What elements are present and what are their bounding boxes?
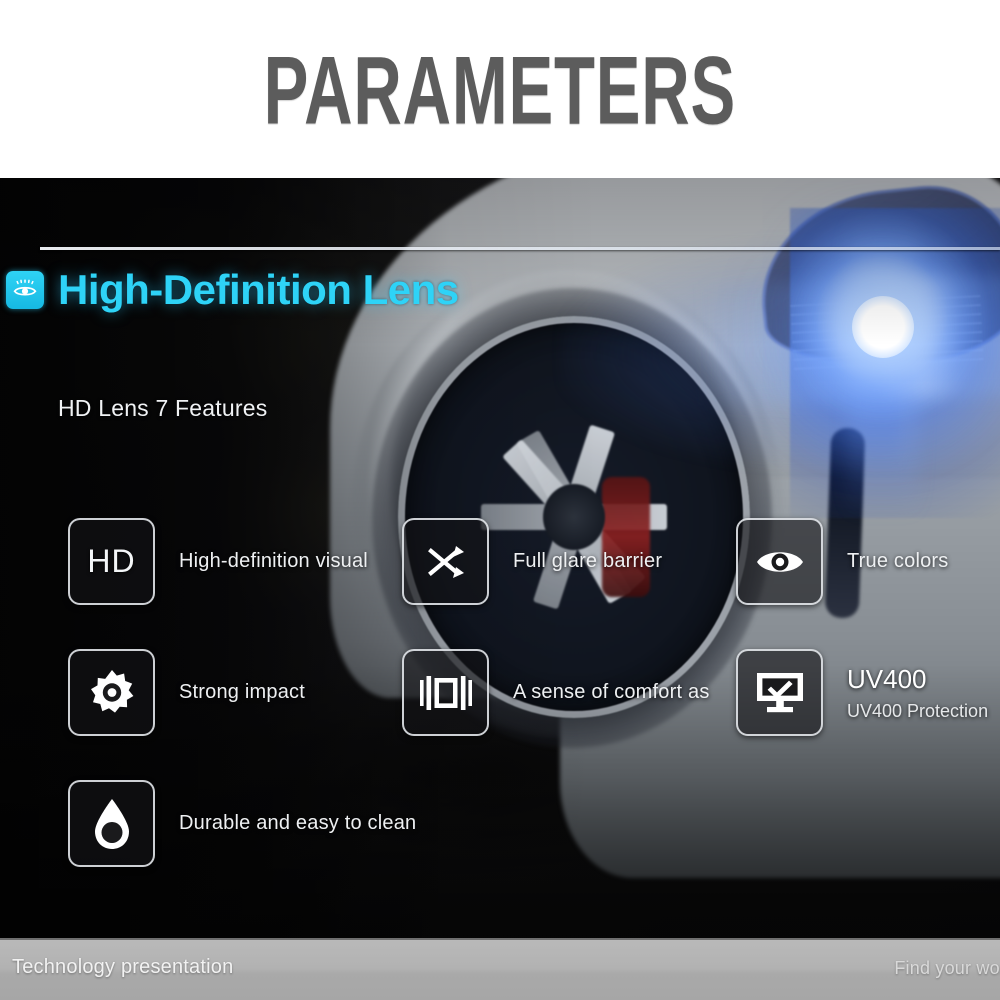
hd-icon-label: HD	[87, 543, 135, 580]
feature-row: Strong impact	[0, 649, 1000, 780]
water-drop-icon	[68, 780, 155, 867]
section-header: High-Definition Lens	[6, 266, 459, 314]
headlight-vertical-flare	[848, 218, 918, 518]
feature-label: High-definition visual	[179, 550, 368, 573]
feature-label: Strong impact	[179, 681, 305, 704]
feature-item-impact: Strong impact	[68, 649, 305, 736]
feature-label-stack: UV400 UV400 Protection	[847, 664, 988, 722]
section-divider	[40, 247, 1000, 250]
feature-item-glare: Full glare barrier	[402, 518, 662, 605]
feature-item-hd: HD High-definition visual	[68, 518, 368, 605]
feature-label: Full glare barrier	[513, 550, 662, 573]
feature-row: Durable and easy to clean	[0, 780, 1000, 911]
footer-right-text: Find your wor	[894, 958, 1000, 979]
section-subtitle: HD Lens 7 Features	[58, 395, 267, 422]
shuffle-arrows-icon	[402, 518, 489, 605]
eye-icon	[6, 271, 44, 309]
hd-icon: HD	[68, 518, 155, 605]
eye-solid-icon	[736, 518, 823, 605]
photo-stage: High-Definition Lens HD Lens 7 Features …	[0, 178, 1000, 938]
feature-label: A sense of comfort as	[513, 681, 710, 704]
footer-left-text: Technology presentation	[12, 956, 233, 979]
monitor-check-icon	[736, 649, 823, 736]
feature-item-uv400: UV400 UV400 Protection	[736, 649, 988, 736]
header-band: PARAMETERS	[0, 0, 1000, 178]
feature-label: UV400	[847, 664, 988, 695]
feature-item-durable: Durable and easy to clean	[68, 780, 416, 867]
feature-grid: HD High-definition visual	[0, 518, 1000, 911]
section-title: High-Definition Lens	[58, 266, 459, 314]
feature-item-true-colors: True colors	[736, 518, 949, 605]
feature-item-comfort: A sense of comfort as	[402, 649, 710, 736]
feature-sublabel: UV400 Protection	[847, 701, 988, 722]
image-frame-icon	[402, 649, 489, 736]
feature-label: True colors	[847, 550, 949, 573]
page-title: PARAMETERS	[264, 36, 736, 147]
feature-label: Durable and easy to clean	[179, 812, 416, 835]
footer-band: Technology presentation Find your wor	[0, 938, 1000, 1000]
gear-icon	[68, 649, 155, 736]
poster: PARAMETERS	[0, 0, 1000, 1000]
headlight-core-beam	[852, 296, 914, 358]
feature-row: HD High-definition visual	[0, 518, 1000, 649]
